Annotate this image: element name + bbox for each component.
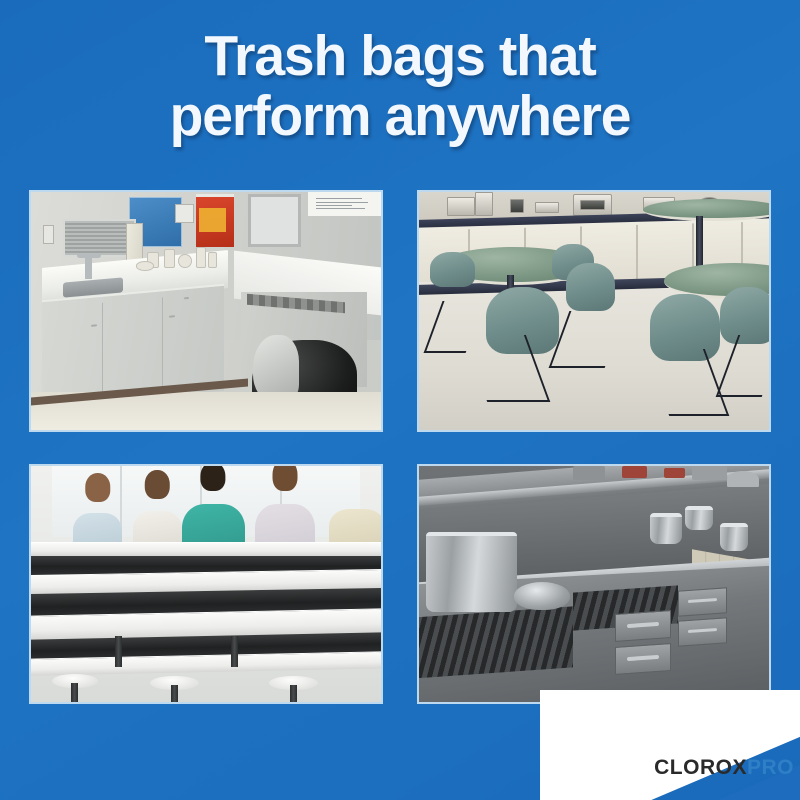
- photo-grid: [29, 190, 771, 704]
- brand-name-clorox: CLOROX: [654, 756, 747, 779]
- photo-commercial-kitchen: [417, 464, 771, 704]
- photo-breakroom-tables: [417, 190, 771, 432]
- photo-breakroom-sink: [29, 190, 383, 432]
- cloroxpro-logo: CLOROXPRO: [654, 757, 794, 778]
- photo-school-cafeteria: [29, 464, 383, 704]
- page-title: Trash bags that perform anywhere: [12, 26, 788, 146]
- headline-line-2: perform anywhere: [12, 86, 788, 146]
- brand-logo-wedge: CLOROXPRO: [540, 690, 800, 800]
- headline-line-1: Trash bags that: [12, 26, 788, 86]
- brand-name-pro: PRO: [747, 756, 794, 779]
- poster-canvas: Trash bags that perform anywhere: [0, 0, 800, 800]
